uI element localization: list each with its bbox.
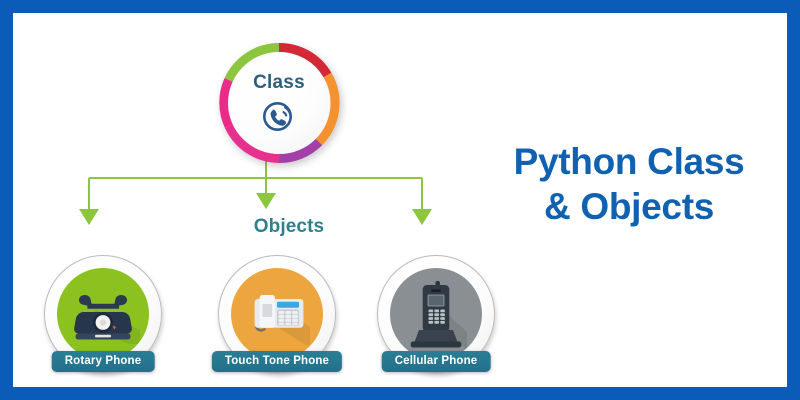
arrowhead-center	[256, 193, 276, 209]
objects-label: Objects	[199, 216, 379, 238]
object-node-rotary[interactable]: Rotary Phone	[44, 255, 162, 373]
diagram-canvas: Class Objects	[0, 0, 800, 400]
arrowhead-right	[412, 209, 432, 225]
rotary-phone-icon	[66, 284, 140, 344]
class-inner-disc: Class	[228, 52, 330, 154]
class-node[interactable]: Class	[217, 41, 341, 165]
arrowhead-left	[79, 209, 99, 225]
object-badge-cellular: Cellular Phone	[382, 351, 491, 372]
cellular-phone-icon	[405, 278, 467, 350]
phone-ring-icon	[261, 98, 297, 134]
page-title-line-1: Python Class	[479, 139, 779, 184]
touch-tone-phone-icon	[244, 283, 310, 345]
page-title-line-2: & Objects	[479, 184, 779, 229]
diagram-stage: Class Objects	[13, 13, 787, 387]
page-title: Python Class & Objects	[479, 139, 779, 229]
object-node-cellular[interactable]: Cellular Phone	[377, 255, 495, 373]
object-badge-rotary: Rotary Phone	[52, 351, 155, 372]
object-node-touch-tone[interactable]: Touch Tone Phone	[218, 255, 336, 373]
object-inner-disc	[231, 268, 323, 360]
class-label: Class	[253, 73, 305, 92]
object-badge-touch-tone: Touch Tone Phone	[212, 351, 342, 372]
object-inner-disc	[57, 268, 149, 360]
object-inner-disc	[390, 268, 482, 360]
